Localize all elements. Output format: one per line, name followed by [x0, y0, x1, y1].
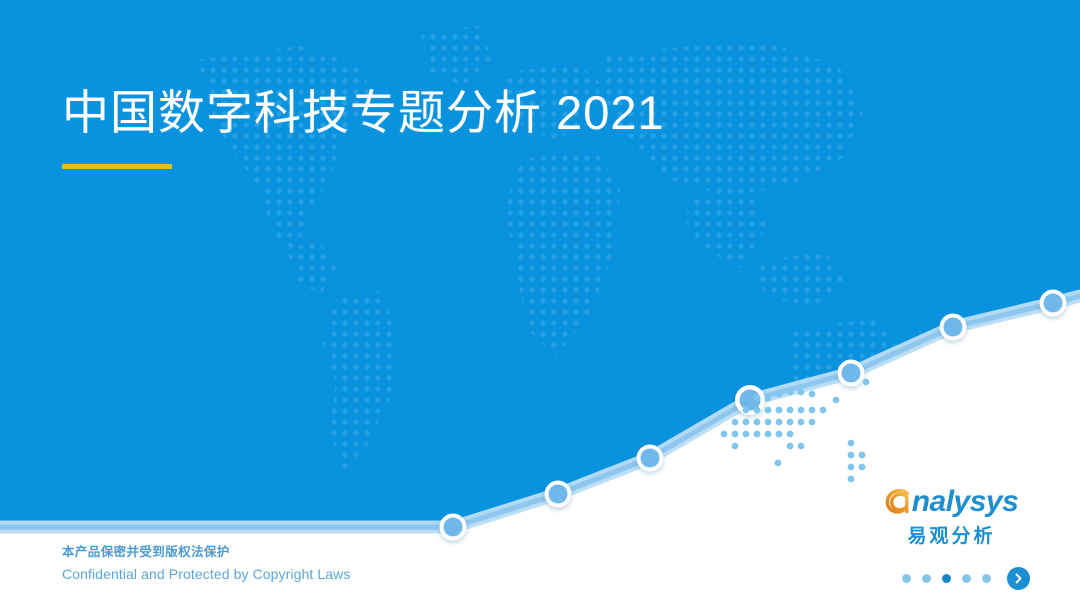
chevron-right-icon [1013, 573, 1024, 584]
analysys-a-swoosh-icon [882, 486, 914, 518]
analysys-logo: nalysys 易观分析 [875, 485, 1025, 548]
logo-wordmark: nalysys [875, 485, 1025, 519]
confidential-notice: 本产品保密并受到版权法保护 Confidential and Protected… [62, 542, 350, 586]
page-title: 中国数字科技专题分析 2021 [62, 82, 665, 144]
pager-dot-1[interactable] [902, 574, 911, 583]
title-block: 中国数字科技专题分析 2021 [62, 82, 665, 169]
title-accent-underline [62, 164, 172, 169]
next-slide-button[interactable] [1007, 567, 1030, 590]
pager-dot-4[interactable] [962, 574, 971, 583]
pagination-control[interactable] [902, 567, 1030, 590]
pager-dot-5[interactable] [982, 574, 991, 583]
logo-subtitle-chinese: 易观分析 [875, 521, 1025, 548]
presentation-slide: 中国数字科技专题分析 2021 本产品保密并受到版权法保护 Confidenti… [0, 0, 1080, 608]
confidential-notice-english: Confidential and Protected by Copyright … [62, 563, 350, 586]
confidential-notice-chinese: 本产品保密并受到版权法保护 [62, 542, 350, 563]
pager-dot-2[interactable] [922, 574, 931, 583]
logo-wordmark-text: nalysys [912, 487, 1019, 517]
pager-dot-3[interactable] [942, 574, 951, 583]
